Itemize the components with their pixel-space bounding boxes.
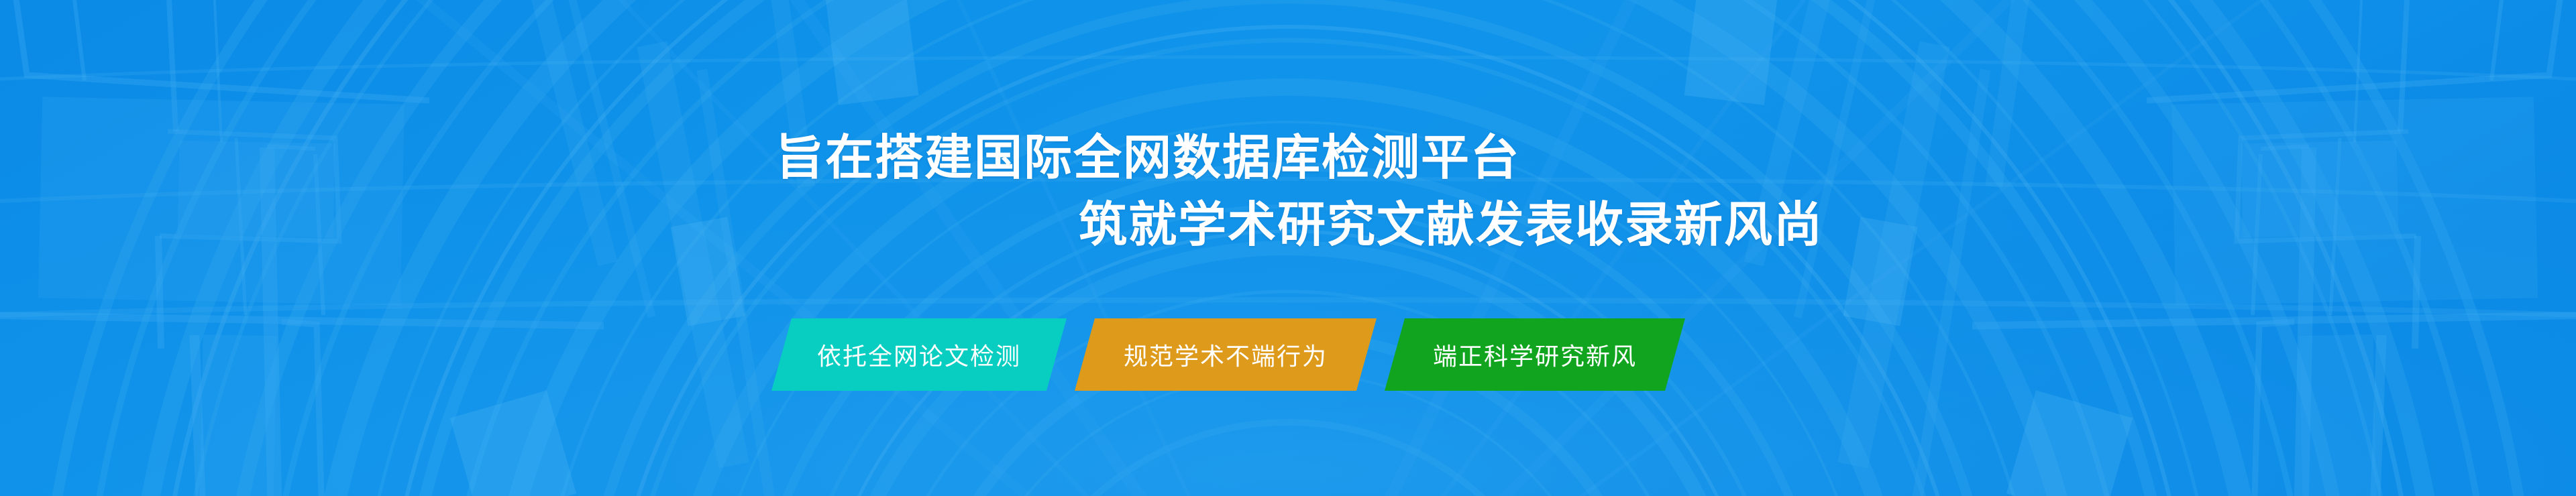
feature-tag-misconduct-label: 规范学术不端行为 [1124, 337, 1328, 372]
feature-tag-misconduct[interactable]: 规范学术不端行为 [1075, 318, 1377, 391]
feature-tag-integrity[interactable]: 端正科学研究新风 [1385, 318, 1685, 391]
feature-tag-strip: 依托全网论文检测 规范学术不端行为 端正科学研究新风 [771, 318, 1818, 391]
feature-tag-integrity-label: 端正科学研究新风 [1433, 337, 1637, 372]
background-tech-pattern [0, 0, 2576, 496]
feature-tag-detection-label: 依托全网论文检测 [817, 337, 1021, 372]
promo-banner: 旨在搭建国际全网数据库检测平台 筑就学术研究文献发表收录新风尚 依托全网论文检测… [0, 0, 2576, 496]
feature-tag-detection[interactable]: 依托全网论文检测 [771, 318, 1067, 391]
